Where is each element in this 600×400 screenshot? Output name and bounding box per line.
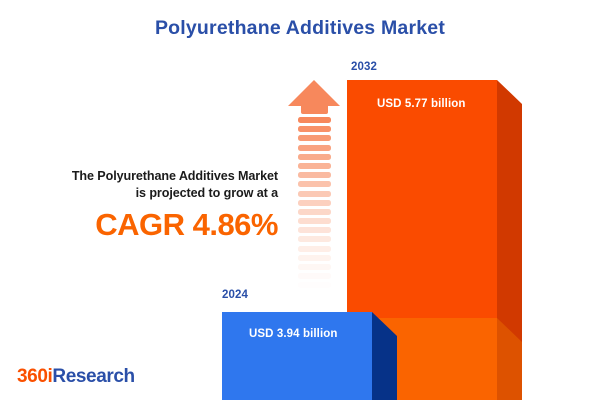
brand-logo: 360iResearch [17,366,135,388]
bar-2024-value-label: USD 3.94 billion [249,328,338,340]
growth-arrow-icon [288,80,341,296]
arrow-stripe [298,117,331,123]
bar-2032-value-label: USD 5.77 billion [377,98,466,110]
arrow-stripe [298,209,331,215]
arrow-stripe [298,282,331,288]
arrow-stripe [298,181,331,187]
arrow-stripe [298,191,331,197]
statement-block: The Polyurethane Additives Market is pro… [14,168,278,242]
bar-2032-year-label: 2032 [351,61,377,73]
arrow-head-icon [288,80,340,106]
arrow-stripe [298,227,331,233]
arrow-stripe [298,200,331,206]
arrow-stripe [298,172,331,178]
arrow-stripe [298,255,331,261]
bar-2024 [222,312,397,400]
page-title: Polyurethane Additives Market [0,17,600,40]
arrow-stripe [298,145,331,151]
arrow-stripe [298,163,331,169]
bar-2024-year-label: 2024 [222,289,248,301]
statement-line-1: The Polyurethane Additives Market [14,168,278,185]
arrow-stripe [298,135,331,141]
arrow-stripe [298,236,331,242]
arrow-stripe [298,292,331,298]
infographic-canvas: Polyurethane Additives Market The Polyur… [0,0,600,400]
arrow-stripe [298,246,331,252]
statement-line-2: is projected to grow at a [14,185,278,202]
bar-2024-side-face [372,312,397,400]
arrow-stripe [298,264,331,270]
arrow-stripe [298,154,331,160]
arrow-stripe [298,218,331,224]
arrow-stripes-icon [298,117,331,296]
bar-base-side-face [497,318,522,400]
arrow-stripe [298,273,331,279]
arrow-neck-icon [301,105,328,114]
arrow-stripe [298,126,331,132]
logo-text-research: Research [52,366,134,387]
cagr-value: CAGR 4.86% [14,208,278,242]
bar-2024-front-face [222,312,372,400]
logo-text-360: 360 [17,366,48,387]
